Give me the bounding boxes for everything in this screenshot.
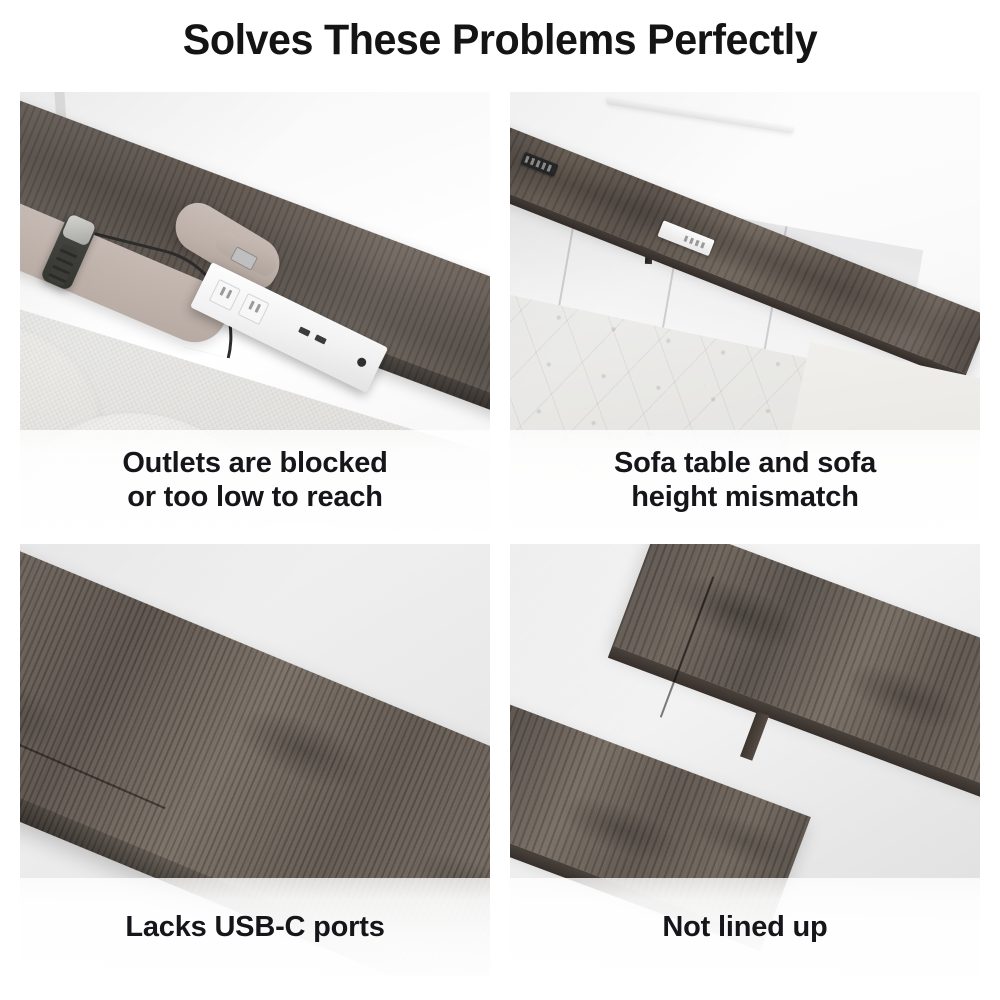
usb-a-port xyxy=(314,334,327,344)
ac-outlet xyxy=(238,293,270,325)
caption-line-1: Lacks USB-C ports xyxy=(125,910,384,944)
panel-not-lined-up: Not lined up xyxy=(510,544,980,976)
panel-caption-not-lined-up: Not lined up xyxy=(510,878,980,976)
panel-caption-lacks-usb-c: Lacks USB-C ports xyxy=(20,878,490,976)
caption-line-2: or too low to reach xyxy=(127,480,383,514)
panel-caption-outlets-blocked: Outlets are blocked or too low to reach xyxy=(20,430,490,530)
page-title: Solves These Problems Perfectly xyxy=(20,12,980,68)
panel-lacks-usb-c: Lacks USB-C ports xyxy=(20,544,490,976)
caption-line-1: Not lined up xyxy=(662,910,827,944)
panel-caption-height-mismatch: Sofa table and sofa height mismatch xyxy=(510,430,980,530)
usb-a-port xyxy=(298,326,311,336)
mounting-screw xyxy=(356,356,368,368)
caption-line-2: height mismatch xyxy=(631,480,858,514)
problem-panel-grid: Outlets are blocked or too low to reach xyxy=(20,92,980,976)
panel-height-mismatch: Sofa table and sofa height mismatch xyxy=(510,92,980,530)
caption-line-1: Sofa table and sofa xyxy=(614,446,876,480)
promo-graphic: Solves These Problems Perfectly xyxy=(0,0,1000,1000)
panel-outlets-blocked: Outlets are blocked or too low to reach xyxy=(20,92,490,530)
caption-line-1: Outlets are blocked xyxy=(122,446,387,480)
ac-outlet xyxy=(209,279,241,311)
